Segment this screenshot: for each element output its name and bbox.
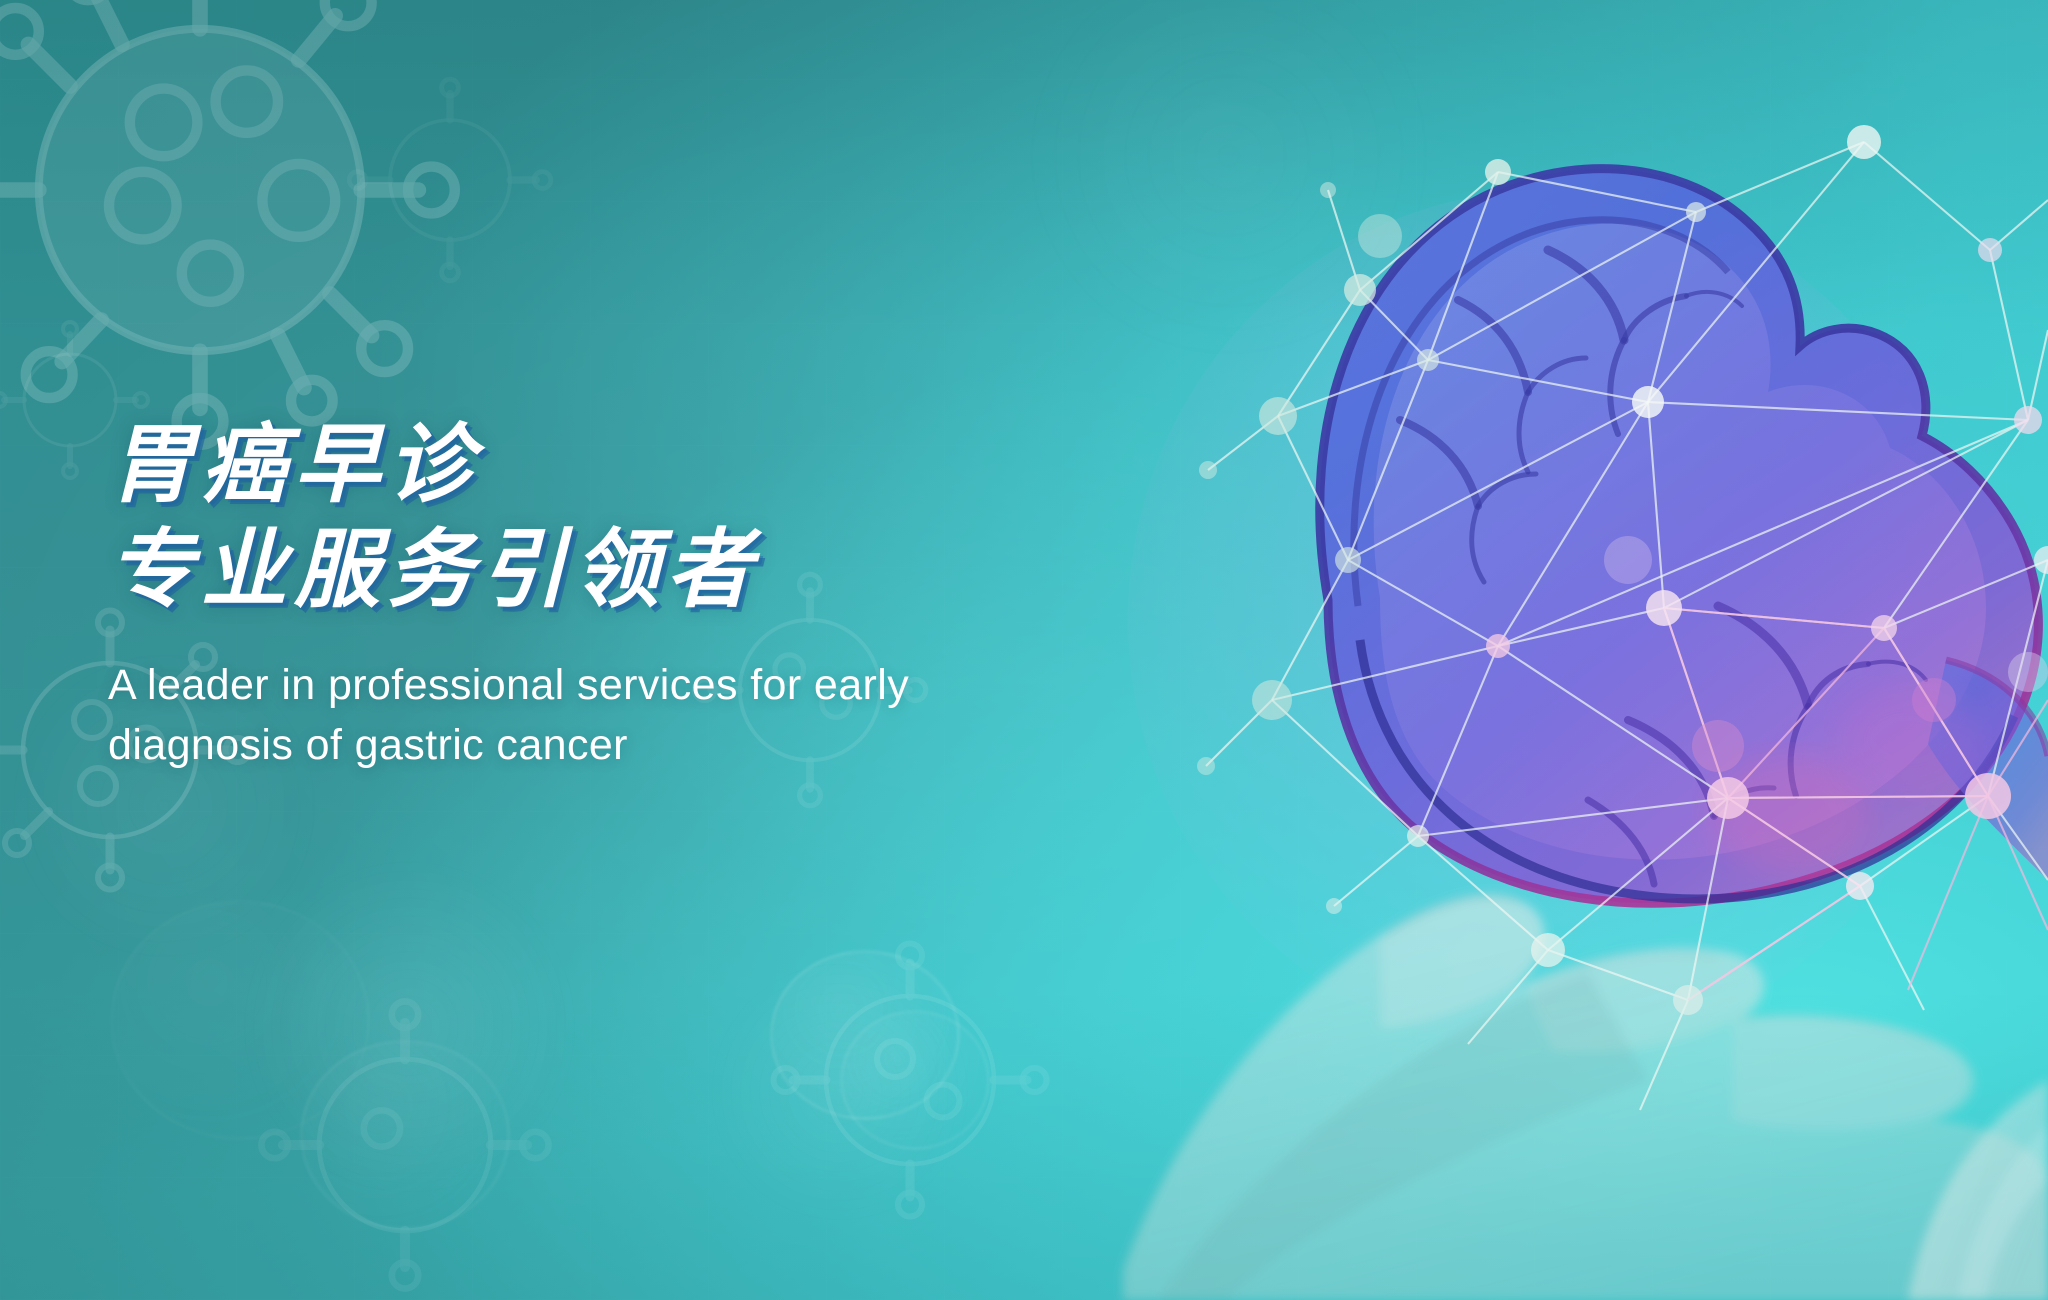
cell-watermark	[110, 900, 370, 1140]
hero-banner: 胃癌早诊 专业服务引领者 A leader in professional se…	[0, 0, 2048, 1300]
virus-icon	[330, 60, 570, 300]
subtitle-line-2: diagnosis of gastric cancer	[108, 716, 1108, 775]
stomach-organ	[1320, 169, 2048, 904]
headline-line-2: 专业服务引领者	[108, 525, 1228, 616]
copy-block: 胃癌早诊 专业服务引领者 A leader in professional se…	[108, 420, 1228, 775]
cell-watermark	[840, 1010, 990, 1150]
subtitle-line-1: A leader in professional services for ea…	[108, 656, 1108, 715]
headline-line-1: 胃癌早诊	[108, 420, 1228, 511]
subtitle: A leader in professional services for ea…	[108, 656, 1108, 775]
